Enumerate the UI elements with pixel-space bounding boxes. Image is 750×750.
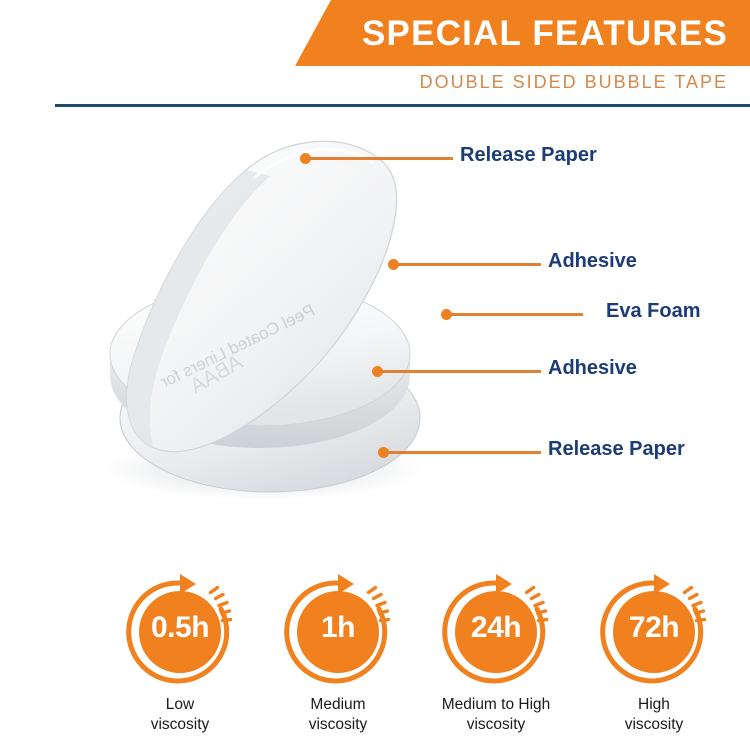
badge-caption-line2: viscosity [411, 715, 581, 735]
badge-value: 72h [596, 570, 712, 686]
badge-value: 24h [438, 570, 554, 686]
leader-line [383, 451, 541, 454]
page-title: SPECIAL FEATURES [362, 16, 750, 51]
leader-line [446, 313, 583, 316]
badge-caption-line1: High [569, 695, 739, 715]
header-divider [55, 104, 750, 107]
badge-caption-line1: Medium [253, 695, 423, 715]
leader-line [305, 157, 453, 160]
badge-value: 1h [280, 570, 396, 686]
callout-label: Release Paper [548, 438, 685, 461]
callout-label: Release Paper [460, 144, 597, 167]
timer-icon: 0.5h [122, 570, 238, 686]
viscosity-badge-row: 0.5h Low viscosity [0, 570, 750, 750]
timer-icon: 72h [596, 570, 712, 686]
badge-value: 0.5h [122, 570, 238, 686]
infographic-page: SPECIAL FEATURES DOUBLE SIDED BUBBLE TAP… [0, 0, 750, 750]
leader-line [393, 263, 541, 266]
badge-caption-line1: Low [95, 695, 265, 715]
viscosity-badge: 1h Medium viscosity [253, 570, 423, 736]
badge-caption: High viscosity [569, 695, 739, 736]
callout-label: Adhesive [548, 357, 637, 380]
badge-caption-line1: Medium to High [411, 695, 581, 715]
timer-icon: 1h [280, 570, 396, 686]
badge-caption: Medium to High viscosity [411, 695, 581, 736]
viscosity-badge: 72h High viscosity [569, 570, 739, 736]
viscosity-badge: 0.5h Low viscosity [95, 570, 265, 736]
header-banner: SPECIAL FEATURES [295, 0, 750, 66]
badge-caption-line2: viscosity [253, 715, 423, 735]
badge-caption-line2: viscosity [95, 715, 265, 735]
timer-icon: 24h [438, 570, 554, 686]
badge-caption-line2: viscosity [569, 715, 739, 735]
badge-caption: Low viscosity [95, 695, 265, 736]
badge-caption: Medium viscosity [253, 695, 423, 736]
callout-label: Adhesive [548, 250, 637, 273]
product-photo: Peel Coated Liners for ABAA [48, 118, 468, 508]
leader-line [377, 370, 541, 373]
viscosity-badge: 24h Medium to High viscosity [411, 570, 581, 736]
header: SPECIAL FEATURES DOUBLE SIDED BUBBLE TAP… [0, 0, 750, 112]
header-subtitle: DOUBLE SIDED BUBBLE TAPE [420, 72, 728, 93]
callout-label: Eva Foam [606, 300, 700, 323]
